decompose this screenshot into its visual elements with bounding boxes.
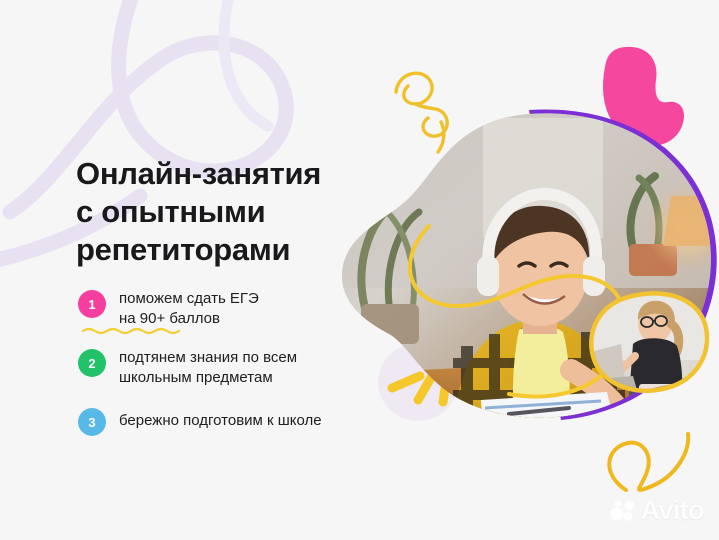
bullet-number-badge-3: 3 (78, 408, 106, 436)
list-item: 2 подтянем знания по всем школьным предм… (78, 348, 408, 388)
bullet-number-badge-2: 2 (78, 349, 106, 377)
yellow-wavy-underline (82, 327, 190, 334)
page-title: Онлайн-занятия с опытными репетиторами (76, 155, 376, 269)
avito-watermark: Avito (610, 495, 705, 526)
bullet-text-3: бережно подготовим к школе (119, 407, 322, 431)
list-item: 1 поможем сдать ЕГЭ на 90+ баллов (78, 289, 408, 329)
bullet-text-2: подтянем знания по всем школьным предмет… (119, 348, 297, 388)
avito-wordmark: Avito (641, 495, 705, 526)
list-item: 3 бережно подготовим к школе (78, 407, 408, 436)
banner-canvas: Онлайн-занятия с опытными репетиторами 1… (0, 0, 719, 540)
avito-dots-icon (610, 500, 636, 522)
bullet-number-badge-1: 1 (78, 290, 106, 318)
bullet-text-1: поможем сдать ЕГЭ на 90+ баллов (119, 289, 259, 329)
benefits-list: 1 поможем сдать ЕГЭ на 90+ баллов 2 подт… (78, 289, 408, 436)
